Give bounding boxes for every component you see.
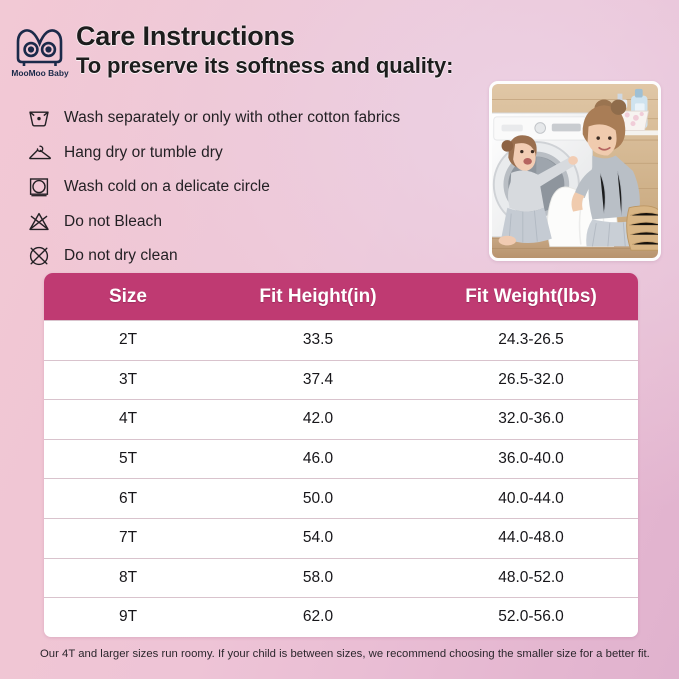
care-instruction-item: Wash cold on a delicate circle (28, 170, 488, 205)
cell-weight: 32.0-36.0 (424, 410, 638, 428)
header-block: Care Instructions To preserve its softne… (76, 22, 496, 80)
cell-size: 7T (44, 529, 212, 547)
column-header-height: Fit Height(in) (212, 286, 424, 308)
care-instruction-label: Do not dry clean (64, 247, 178, 265)
care-instruction-item: Wash separately or only with other cotto… (28, 101, 488, 136)
size-chart-table: Size Fit Height(in) Fit Weight(lbs) 2T 3… (44, 273, 638, 637)
table-row: 3T 37.4 26.5-32.0 (44, 360, 638, 400)
cell-size: 3T (44, 371, 212, 389)
cell-weight: 24.3-26.5 (424, 331, 638, 349)
care-instruction-item: Do not dry clean (28, 239, 488, 274)
table-row: 8T 58.0 48.0-52.0 (44, 558, 638, 598)
cell-height: 58.0 (212, 569, 424, 587)
cell-weight: 44.0-48.0 (424, 529, 638, 547)
owl-logo-icon: MooMoo Baby (10, 22, 70, 80)
wash-tub-icon (28, 108, 64, 128)
cell-height: 37.4 (212, 371, 424, 389)
hanger-icon (28, 143, 64, 163)
care-instruction-label: Do not Bleach (64, 213, 162, 231)
table-header-row: Size Fit Height(in) Fit Weight(lbs) (44, 273, 638, 320)
cell-height: 46.0 (212, 450, 424, 468)
cell-height: 42.0 (212, 410, 424, 428)
no-dry-clean-icon (28, 245, 64, 267)
brand-logo: MooMoo Baby (10, 22, 70, 80)
care-instruction-list: Wash separately or only with other cotto… (28, 101, 488, 274)
cell-size: 4T (44, 410, 212, 428)
cell-weight: 52.0-56.0 (424, 608, 638, 626)
table-row: 5T 46.0 36.0-40.0 (44, 439, 638, 479)
cell-weight: 36.0-40.0 (424, 450, 638, 468)
page-title: Care Instructions (76, 22, 496, 51)
cell-weight: 40.0-44.0 (424, 490, 638, 508)
care-instruction-item: Do not Bleach (28, 205, 488, 240)
laundry-photo-illustration (492, 84, 658, 258)
table-row: 6T 50.0 40.0-44.0 (44, 478, 638, 518)
cell-height: 33.5 (212, 331, 424, 349)
cell-size: 6T (44, 490, 212, 508)
column-header-size: Size (44, 286, 212, 308)
cell-size: 8T (44, 569, 212, 587)
cell-height: 50.0 (212, 490, 424, 508)
page-subtitle: To preserve its softness and quality: (76, 53, 496, 79)
table-row: 4T 42.0 32.0-36.0 (44, 399, 638, 439)
table-row: 7T 54.0 44.0-48.0 (44, 518, 638, 558)
cell-size: 9T (44, 608, 212, 626)
sizing-footnote: Our 4T and larger sizes run roomy. If yo… (40, 648, 648, 660)
table-row: 2T 33.5 24.3-26.5 (44, 320, 638, 360)
care-instructions-page: MooMoo Baby Care Instructions To preserv… (0, 0, 679, 679)
no-bleach-icon (28, 211, 64, 232)
cell-size: 5T (44, 450, 212, 468)
care-instruction-label: Hang dry or tumble dry (64, 144, 223, 162)
care-instruction-label: Wash cold on a delicate circle (64, 178, 270, 196)
cell-height: 54.0 (212, 529, 424, 547)
care-instruction-label: Wash separately or only with other cotto… (64, 109, 400, 127)
cell-size: 2T (44, 331, 212, 349)
laundry-photo-frame (489, 81, 661, 261)
column-header-weight: Fit Weight(lbs) (424, 286, 638, 308)
laundry-photo (492, 84, 658, 258)
cell-weight: 26.5-32.0 (424, 371, 638, 389)
brand-name: MooMoo Baby (11, 68, 69, 78)
tumble-dry-icon (28, 176, 64, 198)
cell-weight: 48.0-52.0 (424, 569, 638, 587)
care-instruction-item: Hang dry or tumble dry (28, 136, 488, 171)
cell-height: 62.0 (212, 608, 424, 626)
table-row: 9T 62.0 52.0-56.0 (44, 597, 638, 637)
